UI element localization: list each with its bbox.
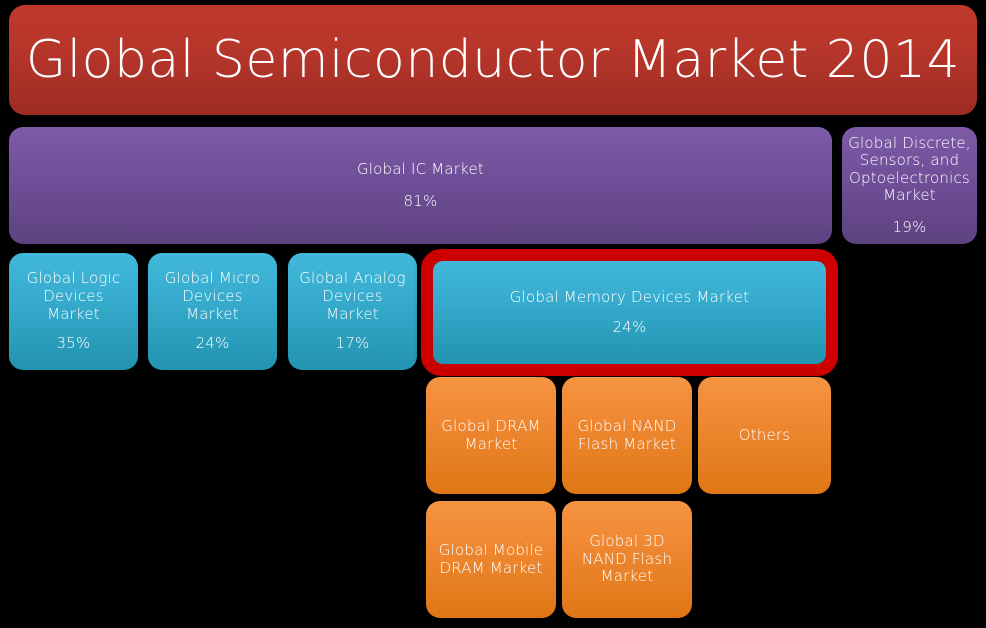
node-micro-devices-market[interactable]: Global Micro Devices Market 24% [148,253,277,370]
node-label: Global Mobile DRAM Market [426,542,556,577]
node-others[interactable]: Others [698,377,831,494]
page-title: Global Semiconductor Market 2014 [9,33,977,88]
node-percent: 17% [288,335,417,353]
node-percent: 24% [148,335,277,353]
node-percent: 35% [9,335,138,353]
diagram-canvas: Global Semiconductor Market 2014 Global … [0,0,986,628]
node-mobile-dram-market[interactable]: Global Mobile DRAM Market [426,501,556,618]
node-label: Global 3D NAND Flash Market [562,533,692,586]
node-label: Global Logic Devices Market [9,270,138,323]
node-ic-market[interactable]: Global IC Market 81% [9,127,832,244]
node-nand-flash-market[interactable]: Global NAND Flash Market [562,377,692,494]
node-label: Others [698,427,831,445]
node-discrete-sensors-optoelectronics-market[interactable]: Global Discrete, Sensors, and Optoelectr… [842,127,977,244]
node-dram-market[interactable]: Global DRAM Market [426,377,556,494]
node-label: Global NAND Flash Market [562,418,692,453]
node-percent: 24% [433,319,826,337]
node-label: Global Micro Devices Market [148,270,277,323]
node-label: Global Memory Devices Market [433,289,826,307]
diagram-title-banner: Global Semiconductor Market 2014 [9,5,977,115]
node-label: Global Discrete, Sensors, and Optoelectr… [842,135,977,205]
node-3d-nand-flash-market[interactable]: Global 3D NAND Flash Market [562,501,692,618]
node-label: Global DRAM Market [426,418,556,453]
node-label: Global Analog Devices Market [288,270,417,323]
node-percent: 81% [9,193,832,211]
node-label: Global IC Market [9,161,832,179]
node-percent: 19% [842,219,977,237]
node-logic-devices-market[interactable]: Global Logic Devices Market 35% [9,253,138,370]
node-analog-devices-market[interactable]: Global Analog Devices Market 17% [288,253,417,370]
node-memory-devices-market[interactable]: Global Memory Devices Market 24% [433,261,826,364]
